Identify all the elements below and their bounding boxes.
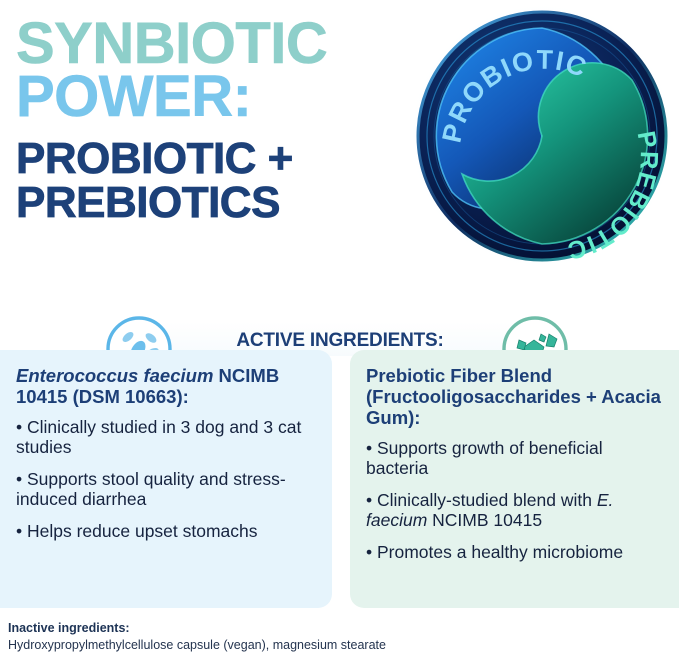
panel-prebiotic: Prebiotic Fiber Blend (Fructooligosaccha… [350,350,679,608]
panel-prebiotic-bullet-1: • Supports growth of beneficial bacteria [366,438,663,479]
panel-probiotic-heading-species: Enterococcus faecium [16,365,213,386]
synbiotic-yinyang-icon: PROBIOTIC PREBIOTIC [408,2,676,270]
hero-section: SYNBIOTIC POWER: PROBIOTIC + PREBIOTICS [0,0,679,275]
panel-prebiotic-bullet-2-pre: • Clinically-studied blend with [366,490,597,510]
ingredient-panels: Enterococcus faecium NCIMB 10415 (DSM 10… [0,350,679,608]
title-block: SYNBIOTIC POWER: PROBIOTIC + PREBIOTICS [16,16,416,224]
footer: Inactive ingredients: Hydroxypropylmethy… [8,620,668,654]
title-line-prebiotics: PREBIOTICS [16,182,416,224]
title-line-synbiotic: SYNBIOTIC [16,16,416,71]
panel-probiotic: Enterococcus faecium NCIMB 10415 (DSM 10… [0,350,332,608]
panel-probiotic-heading: Enterococcus faecium NCIMB 10415 (DSM 10… [16,366,316,408]
panel-prebiotic-heading: Prebiotic Fiber Blend (Fructooligosaccha… [366,366,663,429]
title-line-probiotic: PROBIOTIC + [16,138,416,180]
panel-probiotic-bullet-1: • Clinically studied in 3 dog and 3 cat … [16,417,316,458]
inactive-ingredients-label: Inactive ingredients: [8,620,668,636]
panel-prebiotic-bullet-2-post: NCIMB 10415 [427,510,542,530]
inactive-ingredients-text: Hydroxypropylmethylcellulose capsule (ve… [8,637,668,654]
active-ingredients-title: ACTIVE INGREDIENTS: [130,330,550,352]
title-line-power: POWER: [16,69,416,124]
panel-probiotic-bullet-2: • Supports stool quality and stress-indu… [16,469,316,510]
panel-prebiotic-bullet-3: • Promotes a healthy microbiome [366,542,663,562]
panel-prebiotic-bullet-2: • Clinically-studied blend with E. faeci… [366,490,663,531]
panel-probiotic-bullet-3: • Helps reduce upset stomachs [16,521,316,541]
